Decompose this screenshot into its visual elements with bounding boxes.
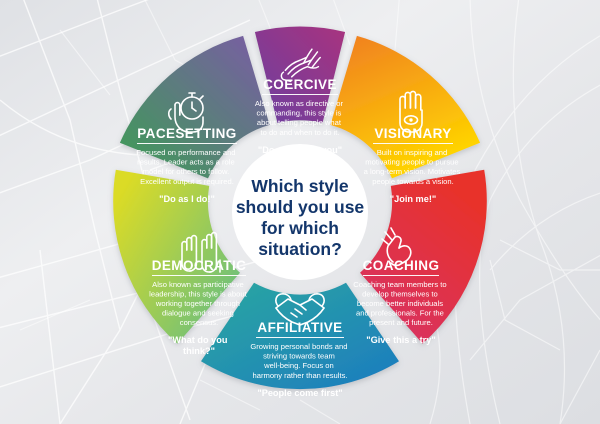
coercive-title: COERCIVE [263, 77, 337, 92]
pacesetting-quote: "Do as I do!" [159, 194, 215, 204]
center-question-line-2: should you use [236, 197, 365, 217]
visionary-title: VISIONARY [374, 126, 451, 141]
coercive-quote: "Do what I tell you" [258, 145, 342, 155]
center-question-line-1: Which style [251, 176, 349, 196]
coaching-quote: "Give this a try" [366, 335, 435, 345]
affiliative-title: AFFILIATIVE [257, 320, 342, 335]
pacesetting-description: Focused on performance and results. Lead… [136, 148, 237, 186]
infographic-poster: COERCIVE Also known as directive or comm… [0, 0, 600, 424]
affiliative-quote: "People come first" [257, 388, 342, 398]
center-question-line-3: for which [261, 218, 339, 238]
pacesetting-title: PACESETTING [137, 126, 236, 141]
visionary-description: Built on inspiring and motivating people… [364, 148, 463, 186]
center-question-line-4: situation? [258, 239, 342, 259]
visionary-quote: "Join me!" [390, 194, 437, 204]
affiliative-description: Growing personal bonds and striving towa… [250, 342, 349, 380]
leadership-styles-wheel: COERCIVE Also known as directive or comm… [0, 0, 600, 424]
coercive-text-group: COERCIVE Also known as directive or comm… [255, 77, 345, 155]
coercive-description: Also known as directive or commanding, t… [255, 99, 345, 137]
democratic-title: DEMOCRATIC [152, 258, 247, 273]
coaching-title: COACHING [363, 258, 440, 273]
